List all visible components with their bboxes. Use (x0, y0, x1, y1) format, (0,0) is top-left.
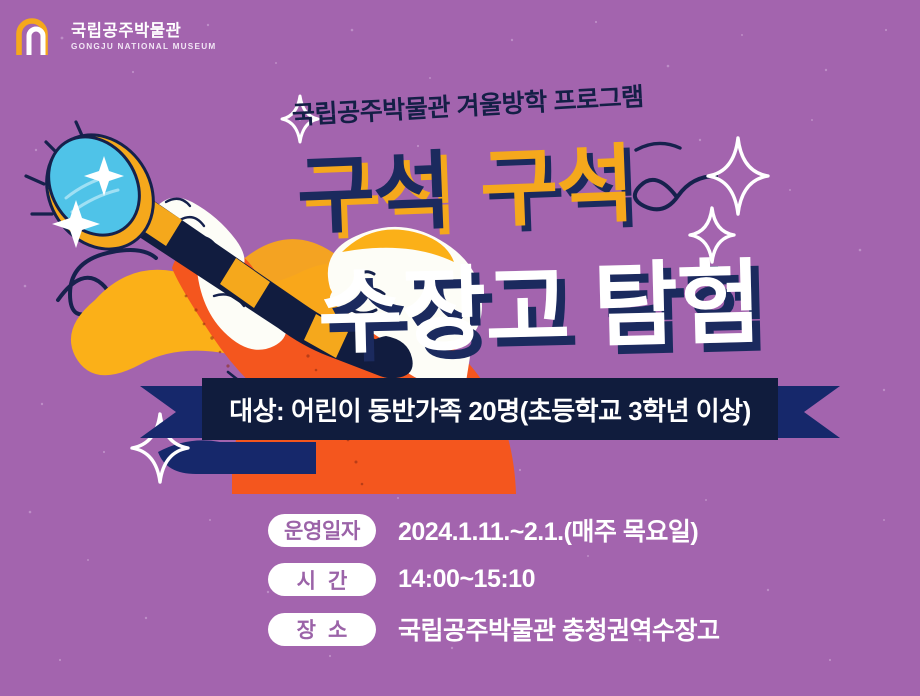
program-details: 운영일자 2024.1.11.~2.1.(매주 목요일) 시간 14:00~15… (268, 512, 719, 647)
museum-arch-icon (14, 16, 62, 56)
logo-korean-name: 국립공주박물관 (71, 23, 216, 40)
title-line-1: 구석 구석 (295, 142, 634, 240)
detail-label-time: 시간 (268, 563, 376, 596)
detail-value-place: 국립공주박물관 충청권역수장고 (398, 611, 719, 647)
detail-row-time: 시간 14:00~15:10 (268, 563, 719, 596)
detail-value-time: 14:00~15:10 (398, 565, 535, 594)
title-word-spacer (455, 219, 477, 220)
detail-label-place: 장소 (268, 613, 376, 646)
title-line-2: 수장고 탐험 (317, 257, 762, 360)
title-word-gusuk-2: 구석 (478, 137, 634, 238)
logo-english-name: GONGJU NATIONAL MUSEUM (71, 43, 216, 51)
detail-row-date: 운영일자 2024.1.11.~2.1.(매주 목요일) (268, 512, 719, 548)
audience-ribbon: 대상: 어린이 동반가족 20명(초등학교 3학년 이상) (140, 378, 840, 442)
poster-canvas: 국립공주박물관 GONGJU NATIONAL MUSEUM 국립공주박물관 겨… (0, 0, 920, 696)
detail-row-place: 장소 국립공주박물관 충청권역수장고 (268, 611, 719, 647)
ribbon-bar: 대상: 어린이 동반가족 20명(초등학교 3학년 이상) (202, 378, 778, 440)
museum-logo: 국립공주박물관 GONGJU NATIONAL MUSEUM (14, 16, 216, 56)
title-word-gusuk-1: 구석 (295, 144, 451, 245)
ribbon-text: 대상: 어린이 동반가족 20명(초등학교 3학년 이상) (229, 391, 751, 428)
detail-label-date: 운영일자 (268, 514, 376, 547)
title-word-sujanggo-tamheom: 수장고 탐험 (317, 252, 762, 365)
detail-value-date: 2024.1.11.~2.1.(매주 목요일) (398, 512, 698, 548)
